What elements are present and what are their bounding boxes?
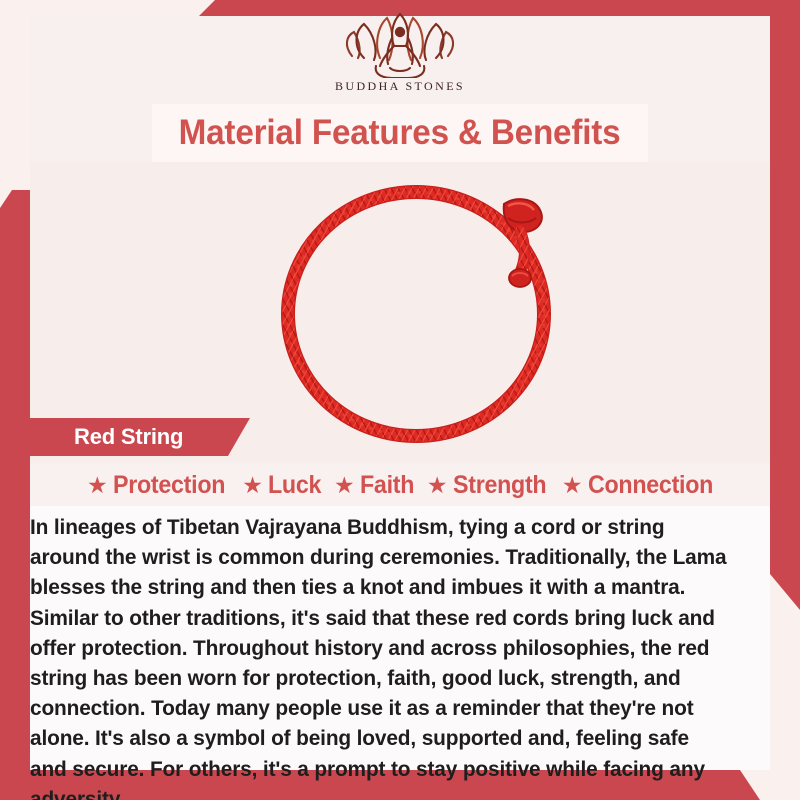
benefit-label: Faith <box>360 471 414 500</box>
benefit-item-connection: ★ Connection <box>553 471 722 500</box>
star-icon: ★ <box>242 474 263 497</box>
star-icon: ★ <box>334 474 355 497</box>
red-string-bracelet-image <box>258 162 598 462</box>
benefits-row: ★ Protection ★ Luck ★ Faith ★ Strength ★… <box>30 464 770 506</box>
benefit-item-luck: ★ Luck <box>233 471 325 500</box>
brand-logo: BUDDHA STONES <box>0 6 800 94</box>
lotus-meditation-icon <box>334 6 466 78</box>
star-icon: ★ <box>562 474 583 497</box>
benefit-label: Connection <box>588 471 713 500</box>
product-name-label: Red String <box>74 424 183 450</box>
benefit-item-faith: ★ Faith <box>325 471 418 500</box>
benefit-item-strength: ★ Strength <box>418 471 553 500</box>
benefit-label: Luck <box>268 471 321 500</box>
benefit-label: Protection <box>113 471 225 500</box>
star-icon: ★ <box>87 474 108 497</box>
bracelet-loop-braid <box>288 192 544 436</box>
title-banner: Material Features & Benefits <box>152 104 648 162</box>
product-photo <box>30 162 770 462</box>
benefit-item-protection: ★ Protection <box>78 471 233 500</box>
infographic-page: BUDDHA STONES Material Features & Benefi… <box>0 0 800 800</box>
description-text: In lineages of Tibetan Vajrayana Buddhis… <box>30 506 748 800</box>
benefit-label: Strength <box>453 471 546 500</box>
page-title: Material Features & Benefits <box>179 113 621 153</box>
brand-wordmark: BUDDHA STONES <box>0 79 800 94</box>
star-icon: ★ <box>427 474 448 497</box>
logo-head-dot <box>395 27 405 37</box>
description-panel: In lineages of Tibetan Vajrayana Buddhis… <box>30 506 770 770</box>
product-name-ribbon: Red String <box>0 418 250 456</box>
left-red-accent-strip <box>0 190 30 800</box>
